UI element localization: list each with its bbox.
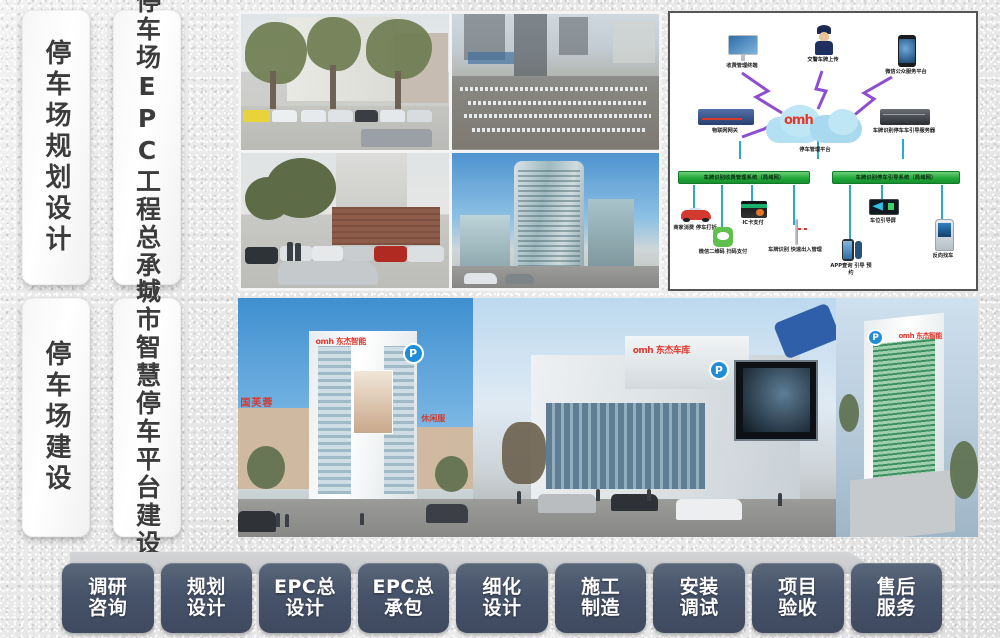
node-toll-terminal-label: 收费管理终端: [710, 63, 774, 70]
category-card-label: 停车场建设: [43, 340, 69, 495]
node-wechat-platform: 微信公众服务平台: [866, 35, 946, 76]
node-fast-entry-exit: 车牌识别 快速出入管理: [768, 219, 822, 254]
render-mechanical-garage-led: omh 东杰车库 P: [473, 298, 836, 537]
category-card-label: 城市智慧停车平台建设: [135, 278, 160, 558]
process-steps: 调研 咨询 规划 设计 EPC总 设计 EPC总 承包 细化 设计 施工 制造 …: [62, 563, 942, 633]
category-card-label: 停车场规划设计: [43, 39, 69, 256]
process-step-project-acceptance[interactable]: 项目 验收: [752, 563, 844, 633]
node-fast-entry-exit-label: 车牌识别 快速出入管理: [768, 247, 822, 254]
category-card-parking-planning-design[interactable]: 停车场规划设计: [22, 10, 90, 285]
render-logo: omh 东杰智能: [316, 336, 366, 347]
photo-lot-brick-building: [241, 153, 449, 289]
render-tower-garage-street: P omh 东杰智能 国芙蓉 休闲服: [238, 298, 473, 537]
cloud-platform-icon: omh: [766, 105, 862, 145]
node-anpr-guide-server-label: 车牌识别停车车引导服务器: [858, 128, 950, 135]
cloud-logo: omh: [784, 113, 813, 128]
category-card-parking-epc-contract[interactable]: 停车场EPC工程总承包: [113, 10, 181, 285]
process-step-construction-mfg[interactable]: 施工 制造: [555, 563, 647, 633]
node-anpr-guide-server: 车牌识别停车车引导服务器: [858, 109, 950, 135]
process-step-planning-design[interactable]: 规划 设计: [161, 563, 253, 633]
parking-badge-icon: P: [709, 360, 729, 380]
system-architecture-diagram: omh 停车管理平台 收费管理终端 交警车牌上传 微信公众服务平台: [668, 11, 978, 291]
node-app-query-guide-label: APP查询 引导 预约: [828, 263, 874, 276]
render-strip: P omh 东杰智能 国芙蓉 休闲服 omh 东杰车库 P: [238, 298, 978, 537]
render-sign-right: 休闲服: [421, 413, 445, 424]
category-card-smart-parking-platform[interactable]: 城市智慧停车平台建设: [113, 298, 181, 537]
node-traffic-police: 交警车牌上传: [792, 25, 854, 64]
render-aerial-green-tower: omh 东杰智能 P: [836, 298, 978, 537]
process-step-epc-overall-design[interactable]: EPC总 设计: [259, 563, 351, 633]
category-card-parking-construction[interactable]: 停车场建设: [22, 298, 90, 537]
category-card-label: 停车场EPC工程总承包: [135, 0, 160, 308]
process-step-detailed-design[interactable]: 细化 设计: [456, 563, 548, 633]
render-sign-left: 国芙蓉: [240, 394, 273, 409]
photo-glass-office-tower: [452, 153, 660, 289]
plaza-ground: [850, 469, 955, 537]
photo-aerial-parking: [452, 14, 660, 150]
node-wechat-platform-label: 微信公众服务平台: [866, 69, 946, 76]
node-reverse-car-find-label: 反向找车: [920, 253, 966, 260]
node-space-guide-screen-label: 车位引导屏: [858, 218, 908, 225]
subsystem-bar-anpr-toll: 车牌识别收费管理系统（局域网）: [678, 171, 810, 184]
photo-collage: [238, 11, 662, 291]
process-step-after-sales[interactable]: 售后 服务: [851, 563, 943, 633]
process-step-research-consult[interactable]: 调研 咨询: [62, 563, 154, 633]
cloud-platform-label: 停车管理平台: [780, 147, 850, 154]
node-app-query-guide: APP查询 引导 预约: [828, 239, 874, 276]
node-wechat-qr-pay: 微信二维码 扫码支付: [698, 227, 748, 256]
page-background: 停车场规划设计 停车场EPC工程总承包 停车场建设 城市智慧停车平台建设: [0, 0, 1000, 638]
node-toll-terminal: 收费管理终端: [710, 35, 774, 70]
subsystem-bar-anpr-guide: 车牌识别停车引导系统（局域网）: [832, 171, 960, 184]
photo-surface-lot-trees: [241, 14, 449, 150]
parking-badge-icon: P: [403, 343, 424, 364]
render-logo: omh 东杰智能: [898, 331, 942, 341]
node-space-guide-screen: 车位引导屏: [858, 199, 908, 225]
node-reverse-car-find: 反向找车: [920, 219, 966, 260]
process-step-install-debug[interactable]: 安装 调试: [653, 563, 745, 633]
render-logo: omh 东杰车库: [633, 343, 690, 356]
lifted-car-icon: [773, 303, 836, 360]
node-iot-gateway: 物联网网关: [686, 109, 764, 135]
node-traffic-police-label: 交警车牌上传: [792, 57, 854, 64]
process-step-epc-contracting[interactable]: EPC总 承包: [358, 563, 450, 633]
node-wechat-qr-pay-label: 微信二维码 扫码支付: [698, 249, 748, 256]
node-iot-gateway-label: 物联网网关: [686, 128, 764, 135]
